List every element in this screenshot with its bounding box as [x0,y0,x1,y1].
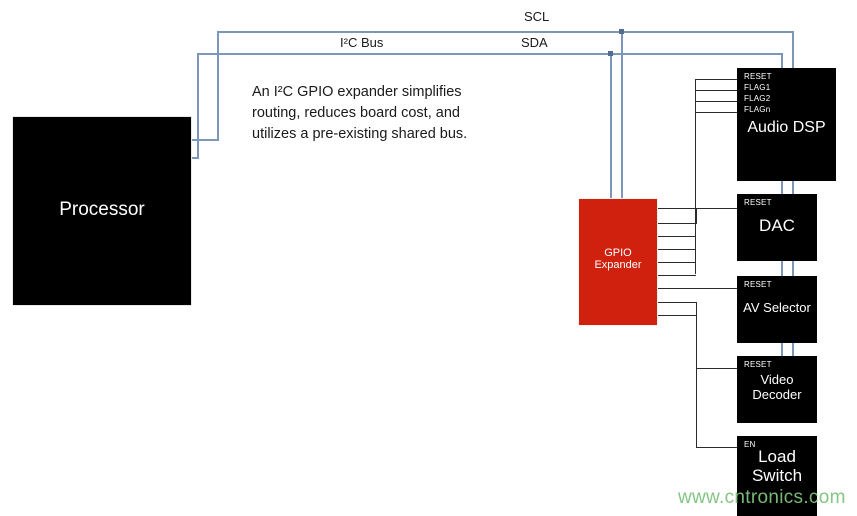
block-video-decoder-label: Video Decoder [737,373,817,402]
annotation-note-line-3: utilizes a pre-existing shared bus. [252,124,542,145]
block-load-switch-label: Load Switch [737,447,817,485]
label-scl: SCL [524,9,549,24]
annotation-note: An I²C GPIO expander simplifies routing,… [252,82,542,145]
signal-load-switch-en [696,447,739,448]
signal-audio-dsp-reset [695,79,739,80]
watermark: www.cntronics.com [678,487,846,509]
signal-dac-riser [696,208,697,224]
pin-dac-reset: RESET [744,197,772,208]
block-av-selector[interactable]: RESET AV Selector [737,276,817,343]
signal-gpio-pin-1 [658,223,696,224]
pin-audio-dsp-reset: RESET [744,71,772,82]
pin-av-selector-reset: RESET [744,279,772,290]
block-gpio-expander[interactable]: GPIO Expander [578,198,658,326]
signal-video-decoder-stub [658,302,696,303]
block-audio-dsp-label: Audio DSP [737,119,836,137]
pin-audio-dsp-flag2: FLAG2 [744,93,770,104]
signal-audio-dsp-flag2 [695,101,739,102]
signal-audio-dsp-flag1 [695,90,739,91]
pin-audio-dsp-flagn: FLAGn [744,104,770,115]
label-i2c-bus: I²C Bus [340,35,383,50]
signal-load-switch-stub [658,315,696,316]
block-audio-dsp[interactable]: RESET FLAG1 FLAG2 FLAGn Audio DSP [737,68,836,181]
bus-wire-scl-to-processor [190,139,219,141]
block-dac[interactable]: RESET DAC [737,194,817,261]
signal-trunk-audio-dsp [695,79,696,274]
bus-wire-sda-to-gpio [610,53,612,199]
bus-junction-scl [619,29,624,34]
signal-dac-reset [658,208,739,209]
block-av-selector-label: AV Selector [737,301,817,316]
signal-gpio-pin-5 [658,275,696,276]
block-processor-label: Processor [13,199,191,220]
signal-gpio-pin-3 [658,249,696,250]
signal-video-decoder-reset [696,368,739,369]
block-processor[interactable]: Processor [12,116,192,306]
label-sda: SDA [521,35,548,50]
annotation-note-line-1: An I²C GPIO expander simplifies [252,82,542,103]
bus-wire-sda-left-vertical [197,53,199,158]
bus-wire-scl-left-vertical [217,31,219,141]
bus-junction-sda [608,51,613,56]
block-video-decoder[interactable]: RESET Video Decoder [737,356,817,423]
signal-audio-dsp-flagn [695,112,739,113]
pin-video-decoder-reset: RESET [744,359,772,370]
signal-av-selector-reset [658,288,739,289]
bus-wire-scl-horizontal [217,31,794,33]
block-gpio-expander-label: GPIO Expander [579,247,657,272]
signal-gpio-pin-4 [658,262,696,263]
signal-gpio-pin-2 [658,236,696,237]
pin-audio-dsp-flag1: FLAG1 [744,82,770,93]
bus-wire-sda-horizontal [197,53,783,55]
block-dac-label: DAC [737,216,817,235]
annotation-note-line-2: routing, reduces board cost, and [252,103,542,124]
diagram-canvas: Processor GPIO Expander RESET FLAG1 FLAG… [0,0,857,516]
bus-wire-scl-to-gpio [621,31,623,199]
signal-load-switch-trunk [696,315,697,448]
